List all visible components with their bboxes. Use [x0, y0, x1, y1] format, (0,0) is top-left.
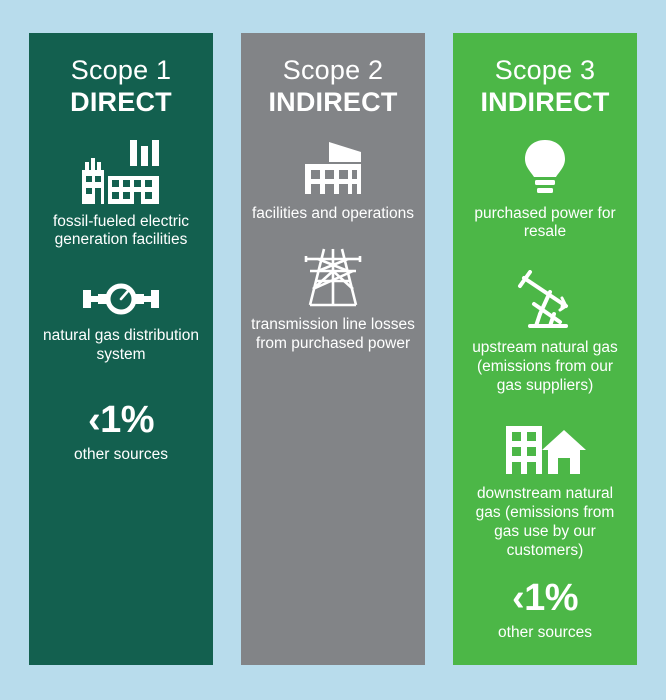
factory-icon	[80, 140, 162, 204]
scope-3-subtitle: INDIRECT	[480, 87, 609, 118]
scope-3-column: Scope 3 INDIRECT purchased power for res…	[453, 33, 637, 665]
office-building-icon	[295, 138, 371, 196]
scope-1-item-2: natural gas distribution system	[39, 280, 203, 365]
scope-2-subtitle: INDIRECT	[268, 87, 397, 118]
scope-1-percent: ‹1%	[88, 401, 154, 439]
oil-pumpjack-icon	[510, 270, 580, 330]
scope-2-column: Scope 2 INDIRECT facilities and opera	[241, 33, 425, 665]
scope-1-column: Scope 1 DIRECT	[29, 33, 213, 665]
scope-2-item-1-label: facilities and operations	[252, 205, 414, 224]
scope-3-percent: ‹1%	[512, 579, 578, 617]
scope-2-item-1: facilities and operations	[252, 138, 414, 224]
scope-2-item-2: transmission line losses from purchased …	[251, 245, 415, 354]
scope-3-item-2-label: upstream natural gas (emissions from our…	[463, 339, 627, 396]
scope-3-percent-label: other sources	[498, 624, 592, 643]
transmission-tower-icon	[296, 245, 370, 307]
gas-meter-icon	[75, 280, 167, 318]
scopes-diagram: Scope 1 DIRECT	[0, 0, 666, 700]
lightbulb-icon	[521, 138, 569, 196]
scope-3-item-2: upstream natural gas (emissions from our…	[463, 270, 627, 396]
scope-3-title: Scope 3	[495, 55, 595, 86]
scope-3-item-1: purchased power for resale	[463, 138, 627, 243]
scope-1-percent-label: other sources	[74, 446, 168, 465]
scope-1-item-2-label: natural gas distribution system	[39, 327, 203, 365]
building-and-house-icon	[502, 422, 588, 476]
scope-1-other-sources: ‹1% other sources	[74, 401, 168, 465]
scope-2-item-2-label: transmission line losses from purchased …	[251, 316, 415, 354]
scope-1-title: Scope 1	[71, 55, 171, 86]
scope-3-item-3: downstream natural gas (emissions from g…	[463, 422, 627, 561]
scope-1-subtitle: DIRECT	[70, 87, 172, 118]
scope-3-item-1-label: purchased power for resale	[463, 205, 627, 243]
scope-3-item-3-label: downstream natural gas (emissions from g…	[463, 485, 627, 561]
scope-1-item-1-label: fossil-fueled electric generation facili…	[39, 213, 203, 251]
scope-1-item-1: fossil-fueled electric generation facili…	[39, 140, 203, 251]
scope-3-other-sources: ‹1% other sources	[498, 579, 592, 643]
scope-2-title: Scope 2	[283, 55, 383, 86]
